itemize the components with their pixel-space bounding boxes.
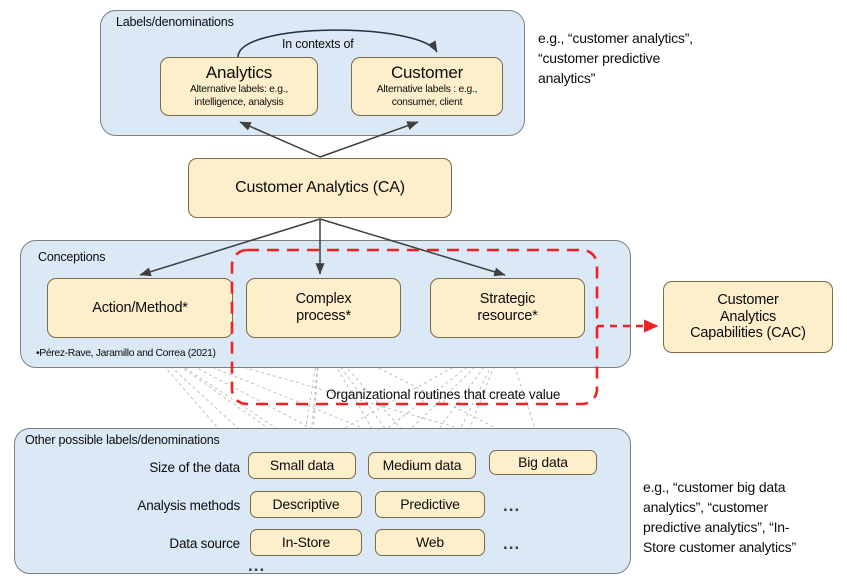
other-labels-group-label: Other possible labels/denominations — [25, 433, 220, 447]
labels-denominations-group-label: Labels/denominations — [116, 15, 234, 29]
chip-descriptive[interactable]: Descriptive — [250, 491, 362, 518]
node-complex-process[interactable]: Complex process* — [246, 278, 401, 338]
node-cac-line2: Analytics — [720, 309, 776, 326]
node-customer-subtitle-line1: Alternative labels : e.g., — [373, 84, 482, 97]
node-analytics-subtitle-line2: intelligence, analysis — [191, 97, 288, 110]
node-analytics[interactable]: Analytics Alternative labels: e.g., inte… — [160, 57, 318, 116]
labels-side-note: e.g., “customer analytics”, “customer pr… — [538, 29, 788, 89]
chip-big-data[interactable]: Big data — [489, 450, 597, 475]
node-analytics-title: Analytics — [206, 63, 272, 83]
node-customer-analytics-capabilities[interactable]: Customer Analytics Capabilities (CAC) — [663, 281, 833, 353]
chip-predictive[interactable]: Predictive — [375, 491, 485, 518]
node-strategic-resource-title-line1: Strategic — [480, 291, 535, 308]
chip-medium-data-label: Medium data — [383, 457, 462, 473]
node-customer-subtitle-line2: consumer, client — [388, 97, 466, 110]
chip-predictive-label: Predictive — [400, 496, 459, 512]
chip-big-data-label: Big data — [518, 454, 568, 470]
node-cac-line1: Customer — [717, 292, 778, 309]
node-action-method-title: Action/Method* — [92, 300, 188, 317]
organizational-routines-label: Organizational routines that create valu… — [326, 387, 560, 402]
node-customer-analytics[interactable]: Customer Analytics (CA) — [188, 158, 452, 218]
row-label-size-of-the-data: Size of the data — [120, 460, 240, 475]
node-customer-analytics-title: Customer Analytics (CA) — [235, 179, 405, 197]
labels-side-note-line3: analytics” — [538, 69, 788, 89]
chip-medium-data[interactable]: Medium data — [368, 452, 476, 479]
row-label-analysis-methods: Analysis methods — [116, 498, 240, 513]
node-action-method[interactable]: Action/Method* — [47, 278, 233, 338]
chip-in-store-label: In-Store — [282, 534, 330, 550]
chip-small-data-label: Small data — [270, 457, 334, 473]
diagram-canvas: Labels/denominations Analytics Alternati… — [0, 0, 847, 579]
bottom-ellipsis: ... — [248, 556, 265, 576]
labels-side-note-line2: “customer predictive — [538, 49, 788, 69]
other-labels-side-note-line3: predictive analytics”, “In- — [643, 518, 847, 538]
row-ellipsis-data-source: ... — [503, 534, 520, 554]
node-customer-title: Customer — [391, 63, 463, 83]
node-customer[interactable]: Customer Alternative labels : e.g., cons… — [351, 57, 503, 116]
in-contexts-of-label: In contexts of — [282, 37, 354, 51]
labels-side-note-line1: e.g., “customer analytics”, — [538, 29, 788, 49]
row-label-data-source: Data source — [140, 536, 240, 551]
chip-web[interactable]: Web — [375, 529, 485, 556]
conceptions-footnote: •Pérez-Rave, Jaramillo and Correa (2021) — [36, 348, 216, 359]
other-labels-side-note: e.g., “customer big data analytics”, “cu… — [643, 478, 847, 558]
other-labels-side-note-line2: analytics”, “customer — [643, 498, 847, 518]
node-cac-line3: Capabilities (CAC) — [690, 325, 806, 342]
chip-web-label: Web — [416, 534, 444, 550]
row-ellipsis-analysis-methods: ... — [503, 496, 520, 516]
node-analytics-subtitle-line1: Alternative labels: e.g., — [186, 84, 292, 97]
chip-small-data[interactable]: Small data — [248, 452, 356, 479]
node-strategic-resource-title-line2: resource* — [477, 308, 537, 325]
conceptions-group-label: Conceptions — [38, 250, 105, 264]
node-strategic-resource[interactable]: Strategic resource* — [430, 278, 585, 338]
chip-in-store[interactable]: In-Store — [250, 529, 362, 556]
other-labels-side-note-line4: Store customer analytics” — [643, 538, 847, 558]
node-complex-process-title-line1: Complex — [296, 291, 352, 308]
chip-descriptive-label: Descriptive — [272, 496, 339, 512]
other-labels-side-note-line1: e.g., “customer big data — [643, 478, 847, 498]
node-complex-process-title-line2: process* — [296, 308, 351, 325]
